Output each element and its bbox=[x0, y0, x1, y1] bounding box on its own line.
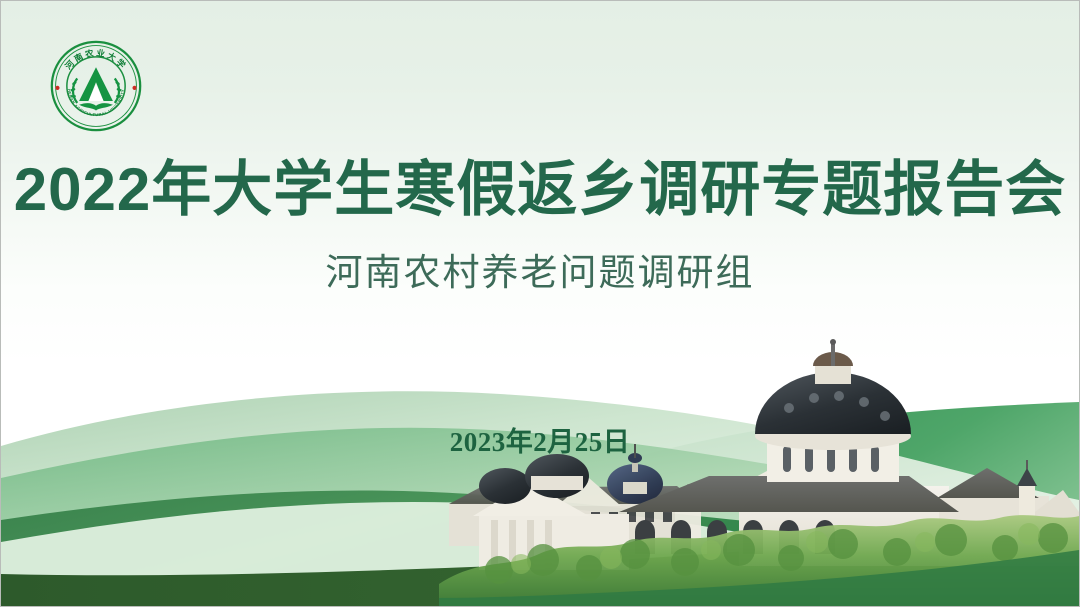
page-title: 2022年大学生寒假返乡调研专题报告会 bbox=[1, 153, 1079, 227]
presentation-date: 2023年2月25日 bbox=[1, 425, 1079, 459]
title-slide: 河南农业大学 HENAN AGRICULTURAL UNIVERSITY 202… bbox=[0, 0, 1080, 607]
henan-agricultural-university-seal-icon: 河南农业大学 HENAN AGRICULTURAL UNIVERSITY bbox=[49, 39, 143, 133]
page-subtitle: 河南农村养老问题调研组 bbox=[1, 249, 1079, 297]
